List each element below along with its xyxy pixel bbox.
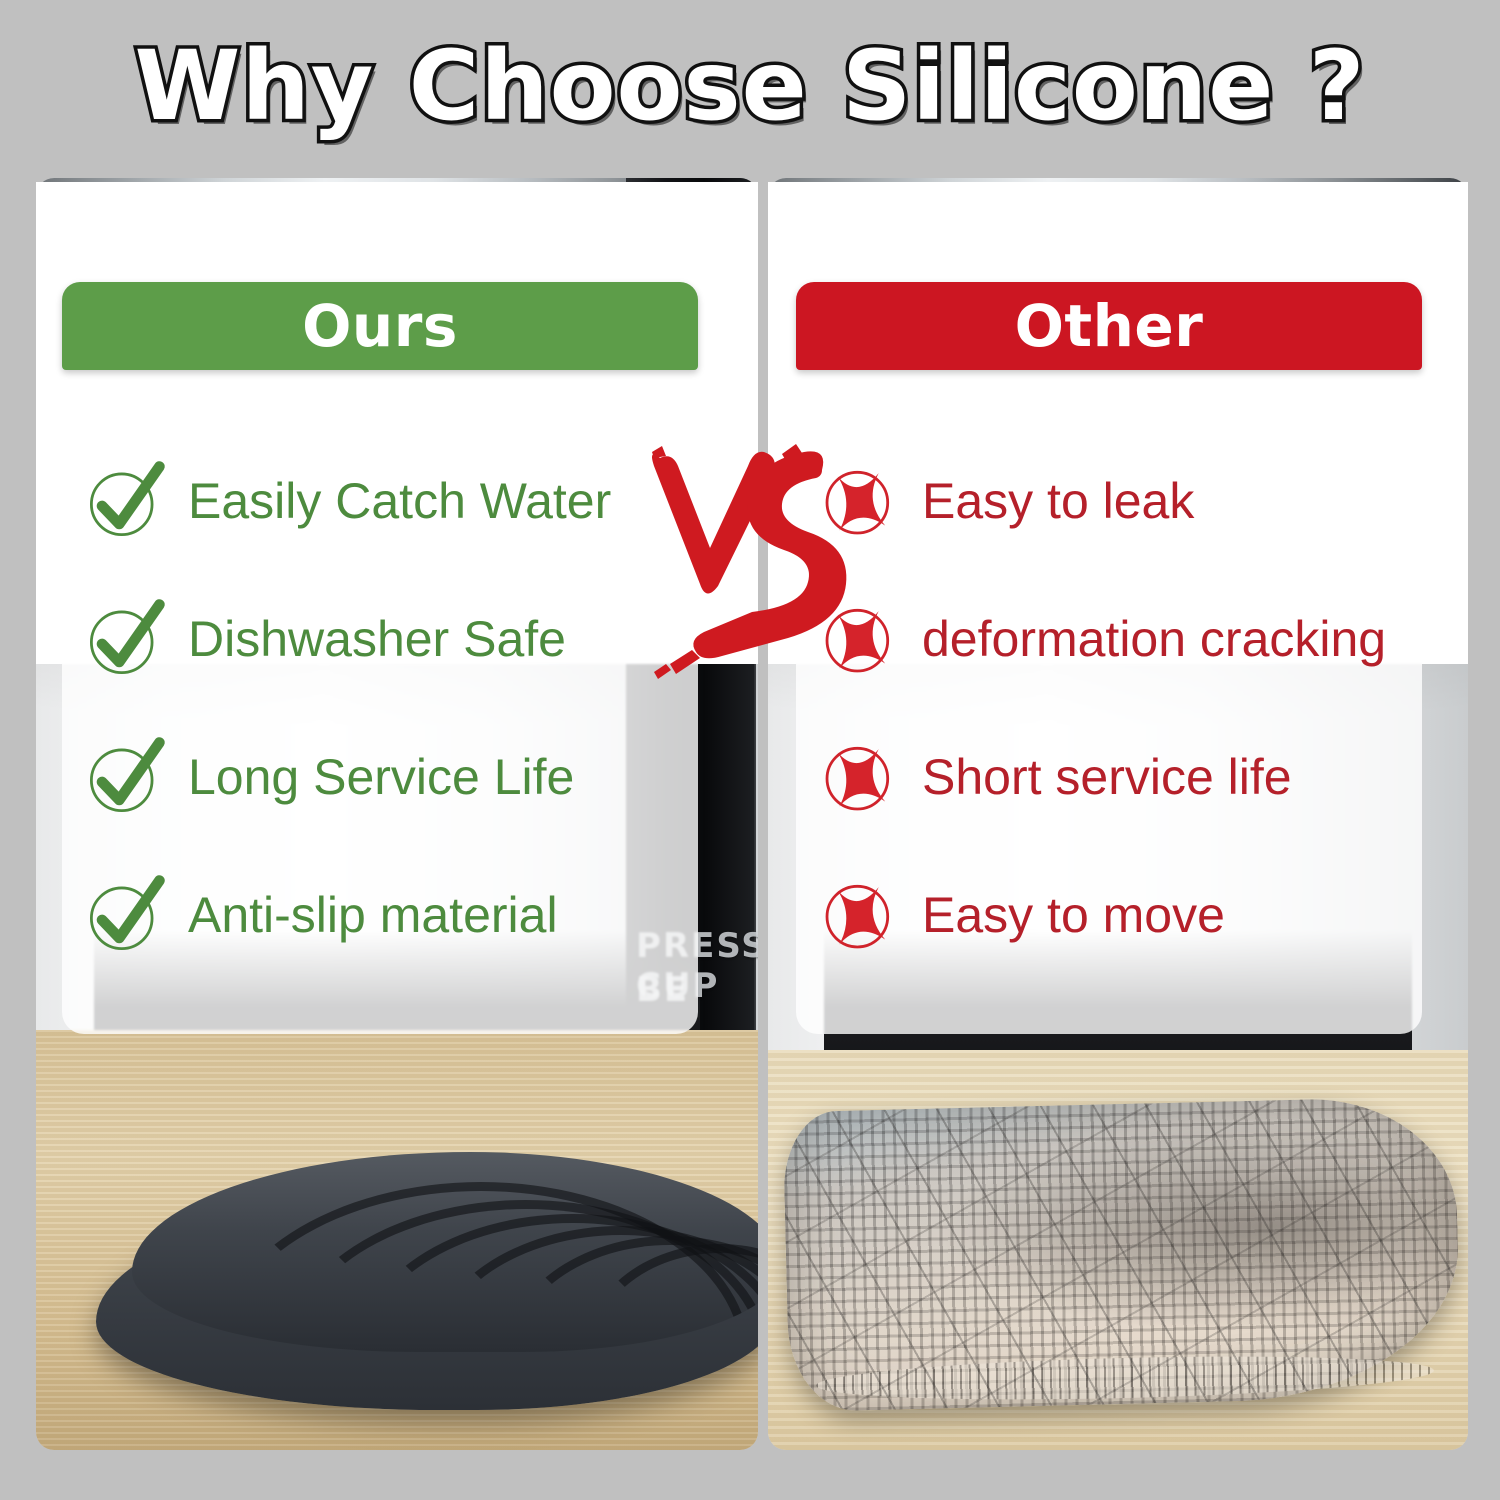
feature-label: Long Service Life — [188, 748, 574, 806]
cross-circle-icon — [818, 598, 900, 680]
feature-row: Easy to leak — [818, 432, 1458, 570]
feature-label: Easily Catch Water — [188, 472, 611, 530]
feature-label: Easy to move — [922, 886, 1225, 944]
column-header-other: Other — [796, 282, 1422, 370]
check-circle-icon — [84, 874, 166, 956]
cross-circle-icon — [818, 736, 900, 818]
page-title: Why Choose Silicone ? — [0, 34, 1500, 138]
feature-row: Long Service Life — [84, 708, 704, 846]
feature-list-ours: Easily Catch Water Dishwasher Safe Long … — [84, 432, 704, 984]
feature-label: Easy to leak — [922, 472, 1194, 530]
feature-label: deformation cracking — [922, 610, 1386, 668]
feature-row: deformation cracking — [818, 570, 1458, 708]
feature-row: Anti-slip material — [84, 846, 704, 984]
feature-list-other: Easy to leak deformation cracking Short … — [818, 432, 1458, 984]
check-circle-icon — [84, 598, 166, 680]
feature-row: Easily Catch Water — [84, 432, 704, 570]
worn-cloth-mat-product — [782, 1096, 1461, 1412]
check-circle-icon — [84, 460, 166, 542]
infographic-canvas: Why Choose Silicone ? PRESS CUP BE — [0, 0, 1500, 1500]
cross-circle-icon — [818, 874, 900, 956]
feature-label: Short service life — [922, 748, 1292, 806]
feature-row: Short service life — [818, 708, 1458, 846]
feature-row: Easy to move — [818, 846, 1458, 984]
feature-label: Dishwasher Safe — [188, 610, 566, 668]
tray-top — [132, 1152, 758, 1352]
silicone-tray-product — [96, 1110, 758, 1410]
check-circle-icon — [84, 736, 166, 818]
column-header-ours: Ours — [62, 282, 698, 370]
cross-circle-icon — [818, 460, 900, 542]
feature-label: Anti-slip material — [188, 886, 558, 944]
feature-row: Dishwasher Safe — [84, 570, 704, 708]
